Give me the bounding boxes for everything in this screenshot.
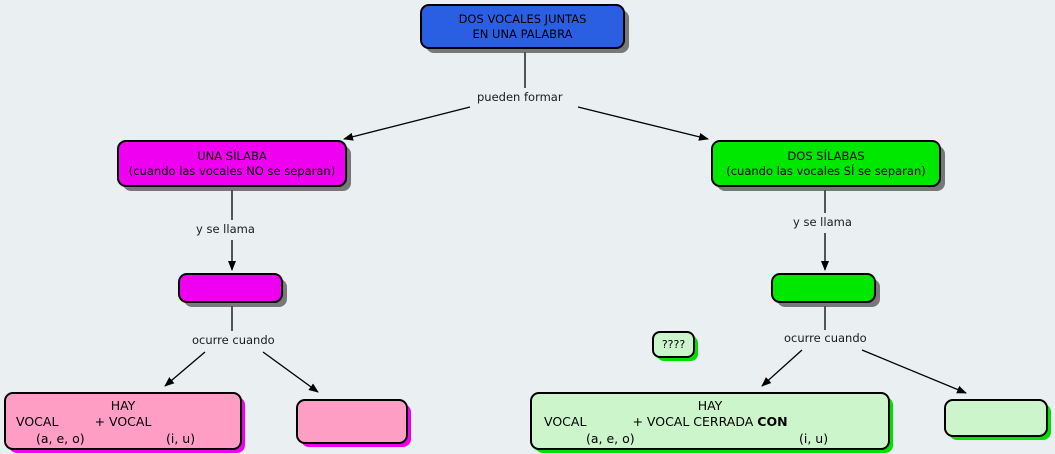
node-pink-mid-term: + VOCAL	[6, 414, 240, 429]
node-una-silaba-line2: (cuando las vocales NO se separan)	[129, 164, 335, 178]
edge-ocurre-to-pink-detail	[165, 352, 205, 386]
node-green-hay-label: HAY	[532, 398, 888, 413]
node-una-silaba[interactable]: UNA SÍLABA (cuando las vocales NO se sep…	[117, 140, 347, 187]
node-green-right-sub: (i, u)	[799, 431, 828, 446]
node-green-hay-layout: HAY VOCAL + VOCAL CERRADA CON (a, e, o) …	[532, 394, 888, 448]
edge-ocurre-to-green-detail	[762, 350, 802, 386]
edge-ocurre-to-pink-blank	[263, 352, 318, 392]
node-green-mid-term-wrap: + VOCAL CERRADA CON	[532, 414, 888, 429]
node-una-silaba-line1: UNA SÍLABA	[197, 149, 267, 163]
node-dos-silabas-line1: DOS SÍLABAS	[787, 149, 864, 163]
edge-label-y-se-llama-left: y se llama	[193, 222, 258, 236]
edge-pueden-to-una	[344, 107, 470, 139]
node-pink-right-sub: (i, u)	[166, 431, 195, 446]
node-green-mid-term-bold: CON	[757, 414, 787, 429]
node-dos-silabas-line2: (cuando las vocales SÍ se separan)	[726, 164, 925, 178]
node-green-left-sub: (a, e, o)	[586, 431, 635, 446]
edge-ocurre-to-green-blank2	[862, 350, 966, 393]
node-magenta-blank[interactable]	[178, 273, 283, 303]
node-pink-blank[interactable]	[296, 399, 408, 444]
node-pink-hay-layout: HAY VOCAL + VOCAL (a, e, o) (i, u)	[6, 394, 240, 448]
node-green-mid-term: + VOCAL CERRADA	[632, 414, 757, 429]
node-dos-silabas-text: DOS SÍLABAS (cuando las vocales SÍ se se…	[713, 149, 939, 177]
node-pink-left-sub: (a, e, o)	[36, 431, 85, 446]
node-root-line2: EN UNA PALABRA	[473, 27, 573, 41]
node-pink-hay-label: HAY	[6, 398, 240, 413]
node-root-line1: DOS VOCALES JUNTAS	[459, 12, 587, 26]
node-dos-vocales-juntas[interactable]: DOS VOCALES JUNTAS EN UNA PALABRA	[420, 4, 625, 49]
node-dos-silabas[interactable]: DOS SÍLABAS (cuando las vocales SÍ se se…	[711, 140, 941, 187]
node-pink-hay-detail[interactable]: HAY VOCAL + VOCAL (a, e, o) (i, u)	[4, 392, 242, 450]
node-green-blank-2[interactable]	[944, 399, 1048, 437]
edge-layer	[0, 0, 1055, 454]
node-question-marks[interactable]: ????	[652, 331, 695, 358]
node-una-silaba-text: UNA SÍLABA (cuando las vocales NO se sep…	[119, 149, 345, 177]
node-green-hay-detail[interactable]: HAY VOCAL + VOCAL CERRADA CON (a, e, o) …	[530, 392, 890, 450]
concept-map-canvas: pueden formar y se llama y se llama ocur…	[0, 0, 1055, 454]
node-green-blank[interactable]	[771, 273, 876, 303]
node-question-marks-label: ????	[662, 338, 685, 351]
edge-label-ocurre-cuando-left: ocurre cuando	[189, 333, 278, 347]
edge-label-pueden-formar: pueden formar	[474, 90, 566, 104]
node-root-text: DOS VOCALES JUNTAS EN UNA PALABRA	[422, 12, 623, 40]
edge-pueden-to-dos	[578, 107, 708, 139]
edge-label-ocurre-cuando-right: ocurre cuando	[781, 331, 870, 345]
edge-label-y-se-llama-right: y se llama	[790, 215, 855, 229]
